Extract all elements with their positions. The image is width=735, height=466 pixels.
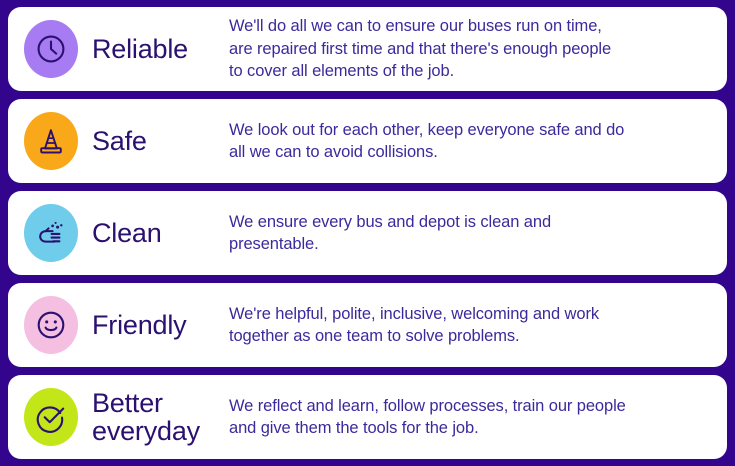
value-card-header: Friendly: [24, 296, 229, 354]
clock-icon: [35, 33, 67, 65]
value-card-header: Safe: [24, 112, 229, 170]
traffic-cone-icon: [35, 125, 67, 157]
value-card-header: Clean: [24, 204, 229, 262]
value-card-better-everyday: Better everyday We reflect and learn, fo…: [8, 375, 727, 459]
clock-icon-badge: [24, 20, 78, 78]
value-card-safe: Safe We look out for each other, keep ev…: [8, 99, 727, 183]
value-title: Clean: [92, 219, 162, 247]
values-board: Reliable We'll do all we can to ensure o…: [0, 0, 735, 466]
smiley-face-icon-badge: [24, 296, 78, 354]
value-description: We look out for each other, keep everyon…: [229, 119, 628, 164]
handwash-icon: [35, 217, 67, 249]
value-description: We'll do all we can to ensure our buses …: [229, 15, 615, 82]
handwash-icon-badge: [24, 204, 78, 262]
value-description: We ensure every bus and depot is clean a…: [229, 211, 555, 256]
value-card-friendly: Friendly We're helpful, polite, inclusiv…: [8, 283, 727, 367]
traffic-cone-icon-badge: [24, 112, 78, 170]
value-title: Better everyday: [92, 389, 200, 445]
value-title: Safe: [92, 127, 147, 155]
value-card-header: Reliable: [24, 20, 229, 78]
smiley-face-icon: [35, 309, 67, 341]
value-description: We reflect and learn, follow processes, …: [229, 395, 630, 440]
check-circle-icon: [35, 401, 67, 433]
value-description: We're helpful, polite, inclusive, welcom…: [229, 303, 603, 348]
value-title: Friendly: [92, 311, 186, 339]
value-title: Reliable: [92, 35, 188, 63]
value-card-clean: Clean We ensure every bus and depot is c…: [8, 191, 727, 275]
value-card-header: Better everyday: [24, 388, 229, 446]
value-card-reliable: Reliable We'll do all we can to ensure o…: [8, 7, 727, 91]
check-circle-icon-badge: [24, 388, 78, 446]
